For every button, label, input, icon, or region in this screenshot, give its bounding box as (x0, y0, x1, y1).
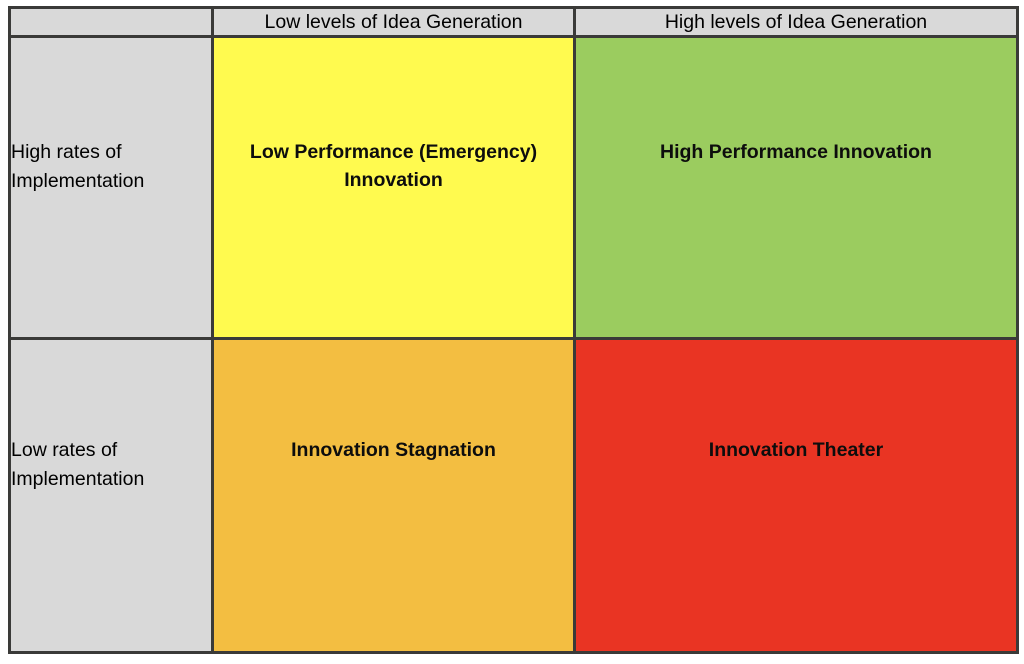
quadrant-innovation-stagnation[interactable]: Innovation Stagnation (213, 339, 575, 653)
row-header-high-implementation: High rates of Implementation (10, 37, 213, 339)
quadrant-label-innovation-theater: Innovation Theater (576, 436, 1016, 464)
innovation-matrix: Low levels of Idea Generation High level… (8, 6, 1016, 654)
quadrant-label-high-performance-innovation: High Performance Innovation (576, 138, 1016, 166)
quadrant-high-performance-innovation[interactable]: High Performance Innovation (575, 37, 1018, 339)
column-header-low-idea-generation: Low levels of Idea Generation (213, 8, 575, 37)
quadrant-label-low-performance-emergency-innovation: Low Performance (Emergency) Innovation (214, 138, 573, 195)
matrix-row-low-implementation: Low rates of Implementation Innovation S… (10, 339, 1018, 653)
quadrant-low-performance-emergency-innovation[interactable]: Low Performance (Emergency) Innovation (213, 37, 575, 339)
matrix-row-high-implementation: High rates of Implementation Low Perform… (10, 37, 1018, 339)
matrix-corner-cell (10, 8, 213, 37)
matrix-header-row: Low levels of Idea Generation High level… (10, 8, 1018, 37)
column-header-high-idea-generation: High levels of Idea Generation (575, 8, 1018, 37)
quadrant-label-innovation-stagnation: Innovation Stagnation (214, 436, 573, 464)
quadrant-innovation-theater[interactable]: Innovation Theater (575, 339, 1018, 653)
row-header-low-implementation: Low rates of Implementation (10, 339, 213, 653)
matrix-table: Low levels of Idea Generation High level… (8, 6, 1019, 654)
